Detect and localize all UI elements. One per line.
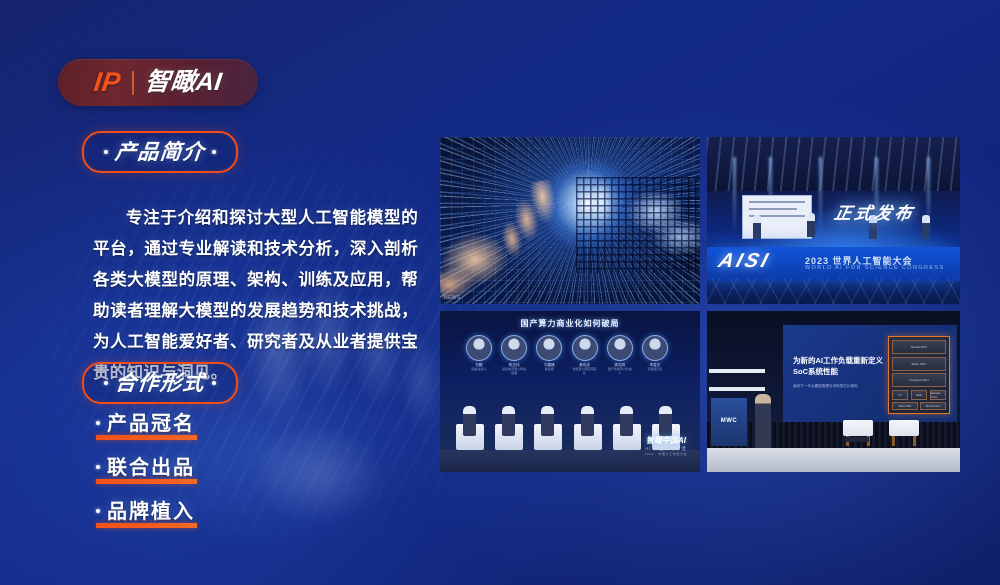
speaker-avatar: 刘建峰 副总裁 [536, 335, 562, 376]
slide-subtitle-text: 面向下一代大模型推理与训练的芯片架构 [793, 383, 885, 389]
chip-block: Compute CPU [892, 373, 946, 387]
stage-person [753, 215, 761, 239]
gallery-image-mwc-keynote: 为新的AI工作负载重新定义SoC系统性能 面向下一代大模型推理与训练的芯片架构 … [707, 311, 960, 472]
list-item-label: 产品冠名 [107, 414, 195, 435]
list-item[interactable]: 产品冠名 [96, 414, 195, 440]
avatar [607, 335, 633, 361]
aisi-logo-text: AISI [716, 250, 774, 273]
panel-seat [572, 404, 604, 450]
chip-block: Micro GPU [892, 357, 946, 371]
bullet-dot-icon [96, 421, 100, 425]
chip-block: Secure Core [930, 390, 946, 400]
section-header-cooperation: 合作形式 [82, 362, 238, 404]
chip-block: Neural NPU [892, 340, 946, 354]
panel-logo-main: 智瞰中国AI [635, 435, 697, 446]
keynote-podium: MWC [711, 398, 747, 446]
speaker-avatar: 周志刚 国产智能算力负责人 [607, 335, 633, 376]
speaker-avatar: 刘鹏 圆桌主持人 [466, 335, 492, 376]
slide-title-text: 为新的AI工作负载重新定义SoC系统性能 [793, 355, 885, 377]
wall-bar-decoration [709, 387, 765, 391]
section-title-intro: 产品简介 [114, 142, 206, 163]
speaker-avatar-row: 刘鹏 圆桌主持人 陈志伟 某科技有限公司总经理 刘建峰 副总裁 黄伟忠 智能算力… [466, 335, 668, 376]
badge-divider [132, 71, 134, 95]
stage-side-table [845, 437, 869, 442]
slide-canvas: IP 智瞰AI 产品简介 专注于介绍和探讨大型人工智能模型的平台，通过专业解读和… [0, 0, 1000, 585]
list-item[interactable]: 品牌植入 [96, 502, 195, 528]
stage-person [922, 215, 930, 239]
gallery-image-panel-discussion: 国产算力商业化如何破局 刘鹏 圆桌主持人 陈志伟 某科技有限公司总经理 刘建峰 … [440, 311, 700, 472]
intro-paragraph: 专注于介绍和探讨大型人工智能模型的平台，通过专业解读和技术分析，深入剖析各类大模… [93, 203, 418, 389]
soc-chip-diagram: Neural NPU Micro GPU Compute CPU AI Safe… [888, 336, 950, 414]
speaker-avatar: 黄伟忠 智能算力研究院院长 [572, 335, 598, 376]
panel-seat [532, 404, 564, 450]
speaker-role: 某科技有限公司总经理 [501, 368, 527, 376]
speaker-role: 副总裁 [536, 368, 562, 372]
image-gallery-grid: NEWS 正式发布 AISI 2023 世界人工智能大会 WORLD AI FO… [440, 137, 960, 472]
list-item[interactable]: 联合出品 [96, 458, 195, 484]
section-header-intro: 产品简介 [82, 131, 238, 173]
chip-block-row: AI Safe Secure Core [892, 390, 946, 400]
panel-seat [493, 404, 525, 450]
speaker-role: 高级研究员 [642, 368, 668, 372]
keynote-speaker-figure [755, 394, 771, 448]
speaker-role: 智能算力研究院院长 [572, 368, 598, 376]
pill-dot-right-icon [212, 381, 216, 385]
badge-brand-name: 智瞰AI [143, 70, 223, 95]
section-title-cooperation: 合作形式 [114, 373, 206, 394]
avatar [466, 335, 492, 361]
list-item-underline [96, 479, 197, 484]
digital-hand-graphic [576, 177, 700, 273]
chip-block: 5G Modem [920, 402, 946, 410]
pill-dot-right-icon [212, 150, 216, 154]
keynote-stage-front [707, 448, 960, 472]
avatar [536, 335, 562, 361]
release-headline-text: 正式发布 [832, 199, 917, 224]
stage-armchair [889, 420, 919, 446]
panel-corner-logo: 智瞰中国AI AI 产业高端对话 2023 · 中国人工智能大会 [635, 435, 697, 456]
bullet-dot-icon [96, 509, 100, 513]
list-item-underline [96, 435, 197, 440]
pill-dot-left-icon [104, 381, 108, 385]
avatar [572, 335, 598, 361]
wall-bar-decoration [709, 369, 765, 373]
speaker-avatar: 李嘉宇 高级研究员 [642, 335, 668, 376]
list-item-label: 品牌植入 [107, 502, 195, 523]
avatar [501, 335, 527, 361]
chip-block: Sub-6 RF [892, 402, 918, 410]
panel-seat [454, 404, 486, 450]
keynote-screen: 为新的AI工作负载重新定义SoC系统性能 面向下一代大模型推理与训练的芯片架构 … [783, 325, 957, 425]
gallery-image-ai-hand-touch: NEWS [440, 137, 700, 304]
podium-logo-text: MWC [711, 418, 747, 424]
speaker-role: 国产智能算力负责人 [607, 368, 633, 376]
pill-dot-left-icon [104, 150, 108, 154]
bullet-dot-icon [96, 465, 100, 469]
led-subtitle-en: WORLD AI FOR SCIENCE CONGRESS [805, 265, 945, 271]
chip-block: Safe [911, 390, 927, 400]
panel-logo-sub2: 2023 · 中国人工智能大会 [635, 452, 697, 456]
gallery-image-aisi-conference: 正式发布 AISI 2023 世界人工智能大会 WORLD AI FOR SCI… [707, 137, 960, 304]
ceiling-truss [707, 137, 960, 191]
chip-block: AI [892, 390, 908, 400]
cooperation-list: 产品冠名 联合出品 品牌植入 [96, 414, 195, 546]
stage-floor [707, 278, 960, 304]
stage-person [807, 213, 815, 237]
list-item-underline [96, 523, 197, 528]
list-item-label: 联合出品 [107, 458, 195, 479]
ip-brand-badge: IP 智瞰AI [58, 59, 258, 106]
chip-block-row: Sub-6 RF 5G Modem [892, 402, 946, 410]
badge-ip-label: IP [93, 69, 123, 96]
speaker-role: 圆桌主持人 [466, 368, 492, 372]
speaker-avatar: 陈志伟 某科技有限公司总经理 [501, 335, 527, 376]
avatar [642, 335, 668, 361]
panel-title-text: 国产算力商业化如何破局 [440, 318, 700, 329]
stage-armchair [843, 420, 873, 446]
image-watermark: NEWS [444, 295, 461, 301]
